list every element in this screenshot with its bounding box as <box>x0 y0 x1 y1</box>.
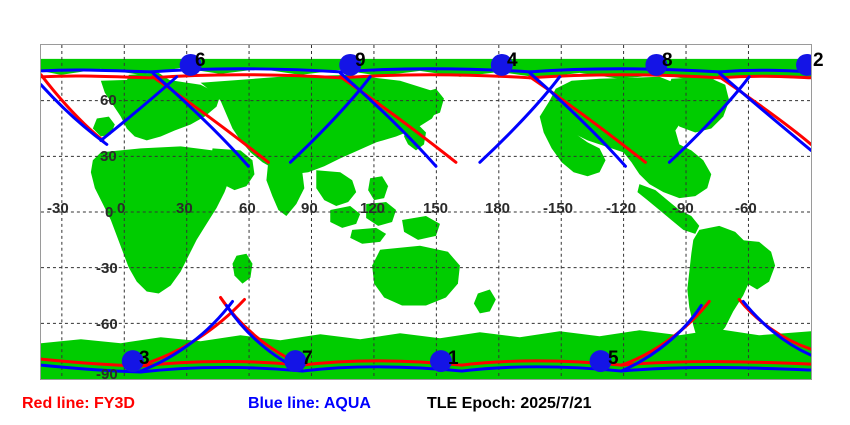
orbit-marker-label-9: 9 <box>355 51 366 70</box>
legend-blue-line-aqua: Blue line: AQUA <box>248 396 371 412</box>
orbit-marker-label-2: 2 <box>813 51 824 70</box>
fy3d-north-link-1 <box>41 76 151 78</box>
satellite-ground-track-page: 90 60 30 0 -30 -60 -90 -30 0 30 60 90 12… <box>0 0 850 425</box>
orbit-marker-label-7: 7 <box>302 349 313 368</box>
orbit-marker-label-8: 8 <box>662 51 673 70</box>
aqua-north-link-5 <box>719 70 811 72</box>
legend-tle-epoch: TLE Epoch: 2025/7/21 <box>427 396 592 412</box>
legend-red-line-fy3d: Red line: FY3D <box>22 396 135 412</box>
orbit-marker-label-3: 3 <box>139 349 150 368</box>
orbit-marker-label-6: 6 <box>195 51 206 70</box>
map-canvas <box>41 45 811 379</box>
world-map-panel: 90 60 30 0 -30 -60 -90 -30 0 30 60 90 12… <box>40 44 812 380</box>
australia <box>372 246 460 306</box>
orbit-marker-label-4: 4 <box>507 51 518 70</box>
fy3d-north-link-5 <box>719 76 811 78</box>
orbit-marker-label-1: 1 <box>448 349 459 368</box>
orbit-marker-label-5: 5 <box>608 349 619 368</box>
aqua-north-link-1 <box>41 70 151 72</box>
legend-bar: Red line: FY3D Blue line: AQUA TLE Epoch… <box>0 392 850 418</box>
